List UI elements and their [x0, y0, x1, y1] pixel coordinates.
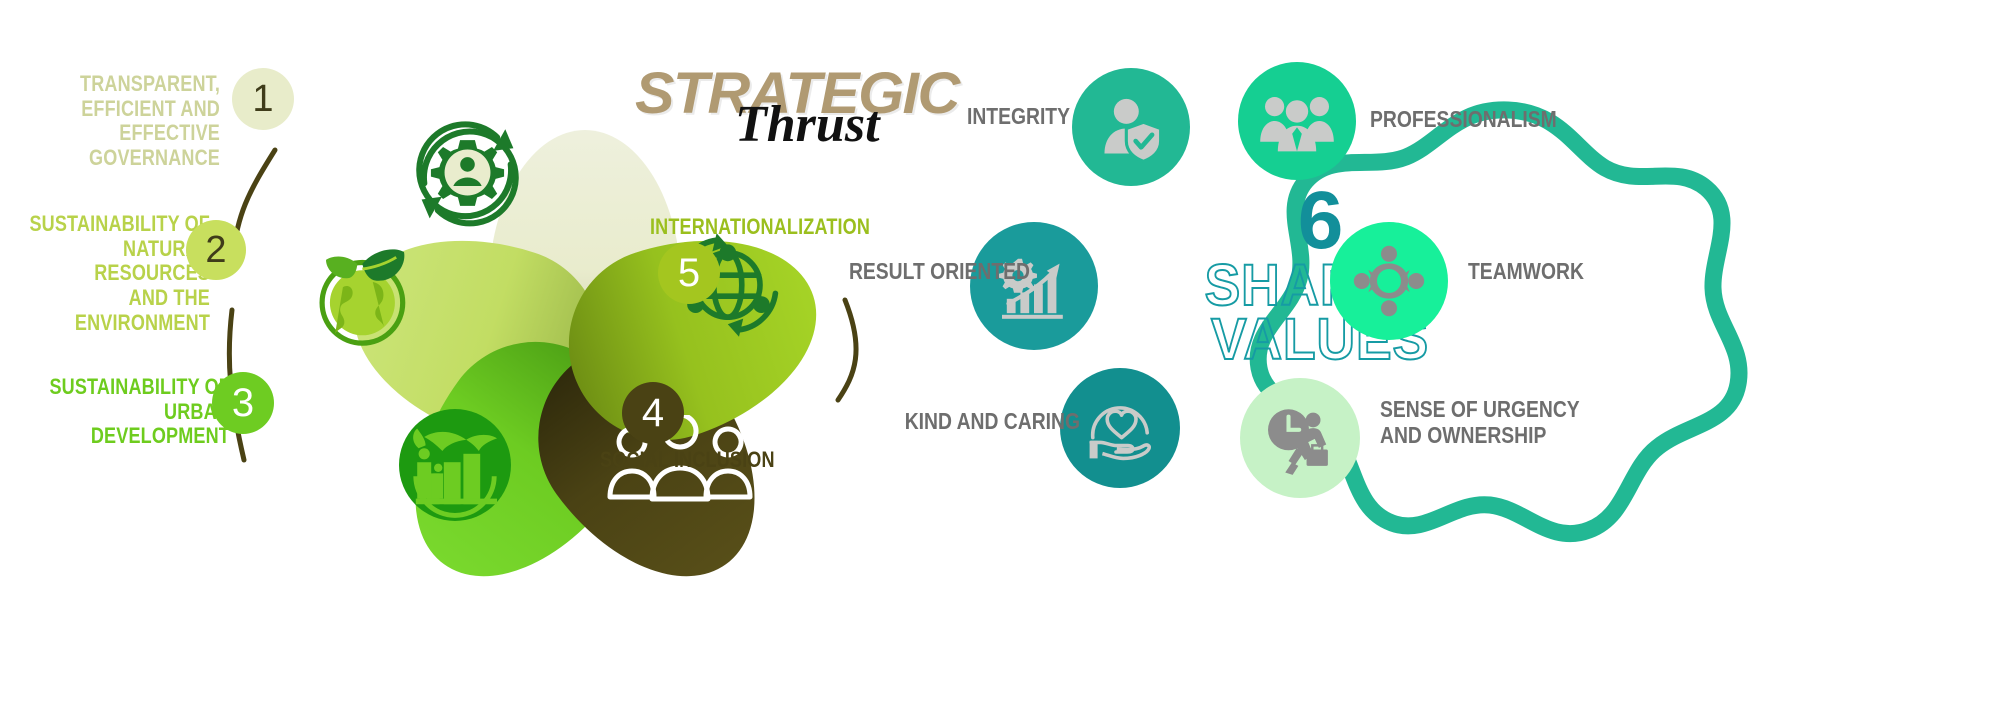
strategic-number-1[interactable]: 1	[232, 68, 294, 130]
shared-values-panel: 6 SHARED VALUES INTEGRITY	[1000, 0, 2000, 706]
value-label-result-oriented: RESULT ORIENTED	[761, 258, 1030, 284]
value-label-integrity: INTEGRITY	[835, 103, 1070, 129]
urban-growth-icon	[385, 395, 525, 535]
strategic-number-2[interactable]: 2	[186, 220, 246, 280]
strategic-number-5[interactable]: 5	[658, 242, 720, 304]
strategic-number-3[interactable]: 3	[212, 372, 274, 434]
value-label-teamwork: TEAMWORK	[1468, 258, 1720, 284]
strategic-label-4: SOCIAL INCLUSION	[600, 448, 813, 473]
clock-running-person-icon	[1259, 397, 1341, 479]
value-label-professionalism: PROFESSIONALISM	[1370, 106, 1639, 132]
strategic-label-3: SUSTAINABILITY OF URBAN DEVELOPMENT	[33, 375, 230, 449]
gear-person-cycle-icon	[400, 105, 535, 240]
value-circle-sense-of-urgency[interactable]	[1240, 378, 1360, 498]
value-circle-professionalism[interactable]	[1238, 62, 1356, 180]
strategic-label-5: INTERNATIONALIZATION	[650, 215, 912, 240]
value-circle-teamwork[interactable]	[1330, 222, 1448, 340]
value-circle-result-oriented[interactable]	[970, 222, 1098, 350]
value-circle-integrity[interactable]	[1072, 68, 1190, 186]
person-shield-icon	[1092, 88, 1170, 166]
strategic-label-2: SUSTAINABILITY OF NATURAL RESOURCES AND …	[13, 212, 210, 335]
strategic-number-4[interactable]: 4	[622, 382, 684, 444]
value-label-kind-and-caring: KIND AND CARING	[845, 408, 1080, 434]
teamwork-network-icon	[1349, 241, 1429, 321]
globe-leaf-icon	[300, 230, 430, 360]
group-people-icon	[1257, 81, 1337, 161]
value-label-sense-of-urgency: SENSE OF URGENCY AND OWNERSHIP	[1380, 396, 1657, 449]
strategic-label-1: TRANSPARENT, EFFICIENT AND EFFECTIVE GOV…	[23, 72, 220, 171]
hand-heart-icon	[1080, 388, 1160, 468]
infographic-canvas: STRATEGIC Thrust TRANSPARENT, EFFICIENT …	[0, 0, 2000, 706]
